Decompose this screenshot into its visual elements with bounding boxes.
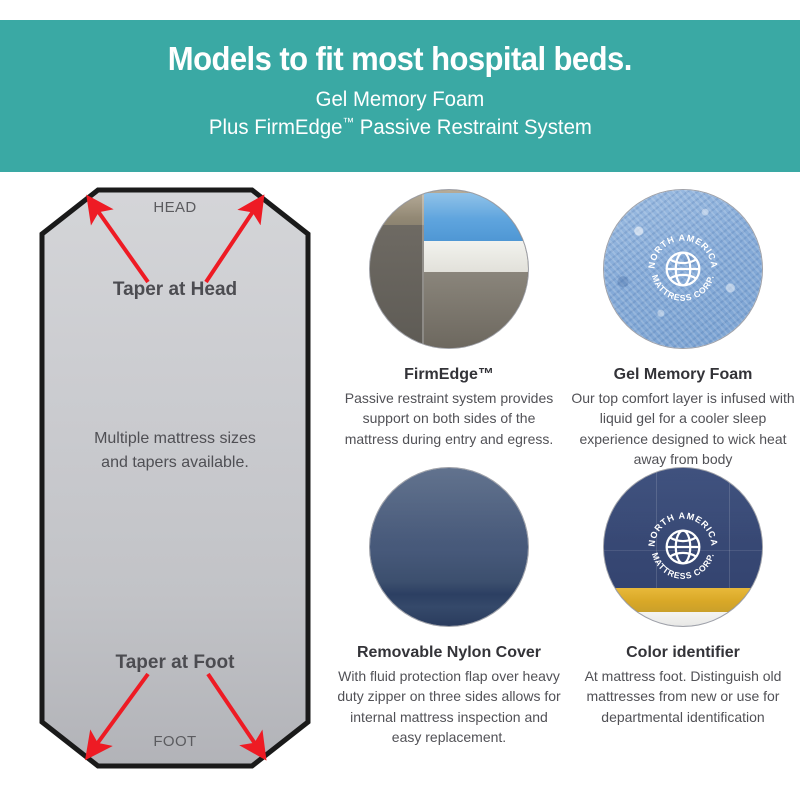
firmedge-white-layer — [424, 241, 528, 273]
feature-description-gelfoam: Our top comfort layer is infused with li… — [566, 388, 800, 469]
nylon-cover-photo — [370, 468, 528, 626]
firmedge-base-foam — [424, 272, 528, 348]
header-subtitle-line2-pre: Plus FirmEdge — [209, 116, 343, 139]
gelfoam-image-wrap: NORTH AMERICA MATTRESS CORP. — [604, 190, 762, 348]
color-identifier-gold-band — [604, 588, 762, 612]
mattress-taper-diagram: HEAD Taper at Head Multiple mattress siz… — [20, 182, 330, 782]
head-label: HEAD — [20, 199, 330, 216]
feature-cell-coloridentifier: NORTH AMERICA MATTRESS CORP. Color ident… — [566, 468, 800, 727]
nyloncover-image-wrap — [370, 468, 528, 626]
page-title: Models to fit most hospital beds. — [168, 42, 632, 77]
firmedge-image-wrap — [370, 190, 528, 348]
nylon-cover-highlight — [370, 468, 528, 544]
trademark-symbol: ™ — [342, 115, 354, 129]
feature-title-nyloncover: Removable Nylon Cover — [332, 643, 566, 662]
feature-description-firmedge: Passive restraint system provides suppor… — [332, 388, 566, 449]
color-identifier-navy-body — [604, 468, 762, 588]
feature-title-gelfoam: Gel Memory Foam — [566, 365, 800, 384]
firmedge-highlight — [370, 190, 528, 218]
mattress-shape — [42, 190, 308, 766]
taper-at-foot-label: Taper at Foot — [20, 652, 330, 674]
feature-description-coloridentifier: At mattress foot. Distinguish old mattre… — [566, 666, 800, 727]
taper-at-head-label: Taper at Head — [20, 279, 330, 301]
svg-text:MATTRESS CORP.: MATTRESS CORP. — [650, 273, 716, 303]
color-identifier-seam-left — [656, 468, 657, 588]
mattress-sizes-note-line2: and tapers available. — [20, 451, 330, 475]
feature-grid: FirmEdge™ Passive restraint system provi… — [332, 190, 800, 770]
feature-description-nyloncover: With fluid protection flap over heavy du… — [332, 666, 566, 747]
gel-memory-foam-photo: NORTH AMERICA MATTRESS CORP. — [604, 190, 762, 348]
feature-title-coloridentifier: Color identifier — [566, 643, 800, 662]
color-identifier-floor — [604, 612, 762, 626]
color-identifier-photo: NORTH AMERICA MATTRESS CORP. — [604, 468, 762, 626]
header-banner: Models to fit most hospital beds. Gel Me… — [0, 20, 800, 172]
mattress-sizes-note: Multiple mattress sizes and tapers avail… — [20, 427, 330, 476]
coloridentifier-image-wrap: NORTH AMERICA MATTRESS CORP. — [604, 468, 762, 626]
header-subtitle-line2: Plus FirmEdge™ Passive Restraint System — [209, 114, 592, 142]
feature-cell-gelfoam: NORTH AMERICA MATTRESS CORP. Gel Memory … — [566, 190, 800, 469]
north-america-mattress-corp-globe-logo: NORTH AMERICA MATTRESS CORP. — [640, 226, 726, 312]
color-identifier-seam-horizontal — [604, 550, 762, 551]
header-subtitle-line2-post: Passive Restraint System — [354, 116, 592, 139]
mattress-sizes-note-line1: Multiple mattress sizes — [20, 427, 330, 451]
feature-cell-firmedge: FirmEdge™ Passive restraint system provi… — [332, 190, 566, 449]
firmedge-cutaway-photo — [370, 190, 528, 348]
foot-label: FOOT — [20, 733, 330, 750]
mattress-outline-svg — [20, 182, 330, 782]
feature-title-firmedge: FirmEdge™ — [332, 365, 566, 384]
svg-text:NORTH AMERICA: NORTH AMERICA — [646, 233, 719, 270]
feature-cell-nyloncover: Removable Nylon Cover With fluid protect… — [332, 468, 566, 747]
color-identifier-seam-right — [729, 468, 730, 588]
header-subtitle-line1: Gel Memory Foam — [316, 86, 485, 114]
